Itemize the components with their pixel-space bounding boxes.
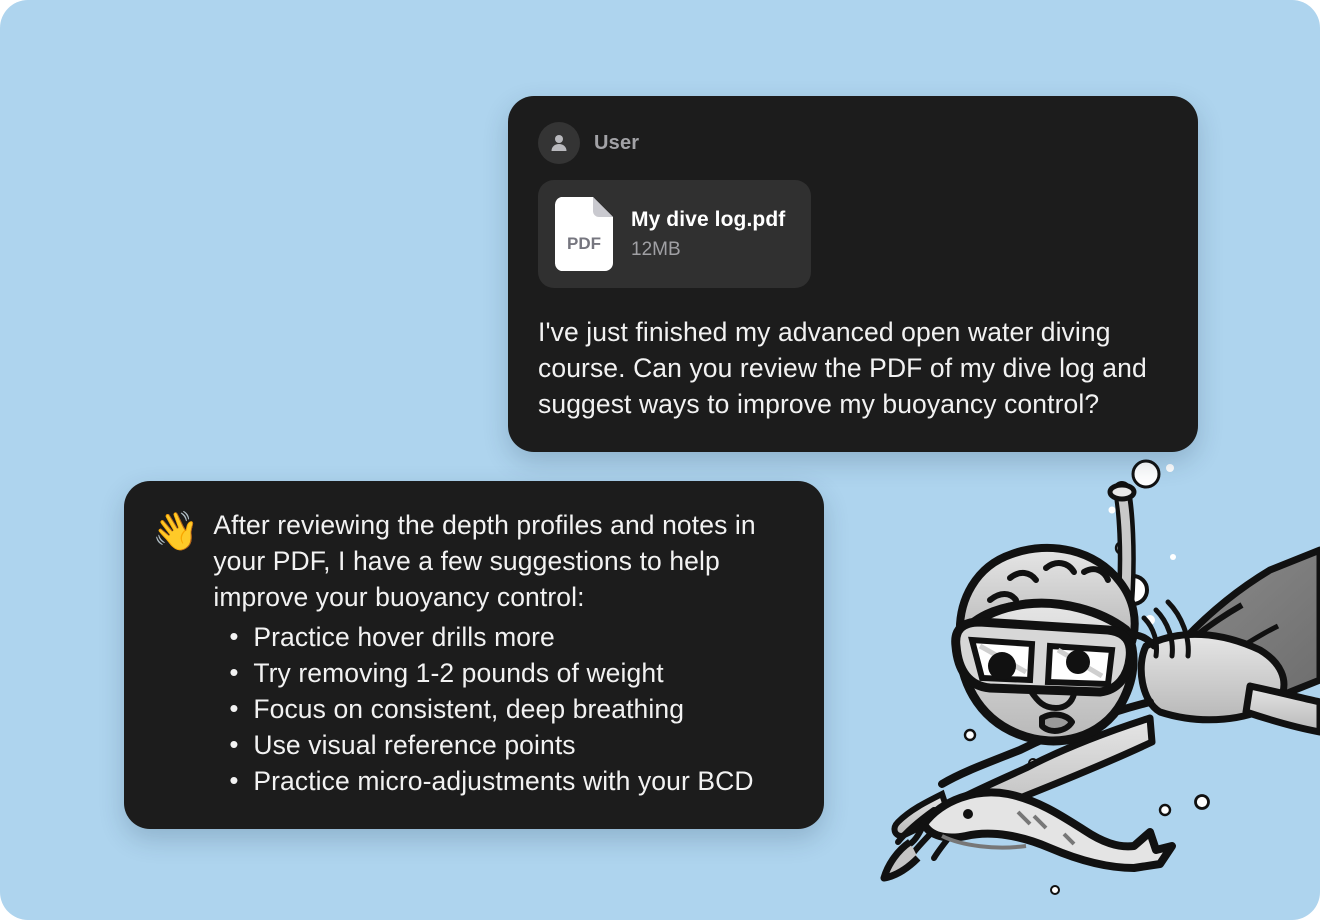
- fish-tail: [884, 842, 918, 878]
- pdf-file-icon: PDF: [555, 197, 613, 271]
- diver-left-hand: [895, 794, 960, 858]
- diver-face: [960, 603, 1133, 741]
- list-item: Practice micro-adjustments with your BCD: [213, 763, 796, 799]
- sender-name: User: [594, 132, 639, 155]
- assistant-intro-text: After reviewing the depth profiles and n…: [213, 507, 796, 615]
- snorkel-tube: [1108, 490, 1127, 672]
- screenshot-canvas: User PDF My dive log.pdf 12MB I've just …: [0, 0, 1320, 920]
- diver-left-eye: [988, 652, 1016, 680]
- diver-right-eye: [1066, 650, 1090, 674]
- list-item: Try removing 1-2 pounds of weight: [213, 655, 796, 691]
- diver-torso: [1141, 634, 1284, 719]
- dive-mask: [956, 622, 1131, 692]
- diver-mouth: [1042, 715, 1072, 731]
- user-message-header: User: [538, 122, 1168, 164]
- air-bubbles: [965, 461, 1209, 894]
- pdf-icon-label: PDF: [567, 234, 601, 253]
- mask-strap: [1118, 634, 1154, 646]
- wetsuit-shorts: [1150, 550, 1320, 703]
- attachment-meta: My dive log.pdf 12MB: [631, 208, 785, 261]
- attachment-filesize: 12MB: [631, 239, 785, 261]
- fish: [884, 792, 1172, 878]
- attachment-card[interactable]: PDF My dive log.pdf 12MB: [538, 180, 811, 288]
- person-icon: [547, 131, 571, 155]
- waving-hand-emoji: 👋: [152, 513, 199, 799]
- list-item: Practice hover drills more: [213, 619, 796, 655]
- suggestions-list: Practice hover drills more Try removing …: [213, 619, 796, 799]
- fish-eye: [963, 809, 973, 819]
- diver-left-arm: [930, 718, 1152, 830]
- user-message-bubble: User PDF My dive log.pdf 12MB I've just …: [508, 96, 1198, 452]
- attachment-filename: My dive log.pdf: [631, 208, 785, 232]
- snorkeler-diver-illustration: [850, 450, 1320, 920]
- list-item: Use visual reference points: [213, 727, 796, 763]
- diver-right-arm: [1246, 686, 1320, 732]
- assistant-message-body: After reviewing the depth profiles and n…: [213, 507, 796, 799]
- diver-hair: [960, 548, 1135, 642]
- avatar: [538, 122, 580, 164]
- list-item: Focus on consistent, deep breathing: [213, 691, 796, 727]
- user-message-text: I've just finished my advanced open wate…: [538, 314, 1168, 422]
- motion-lines: [1144, 602, 1188, 656]
- assistant-message-bubble: 👋 After reviewing the depth profiles and…: [124, 481, 824, 829]
